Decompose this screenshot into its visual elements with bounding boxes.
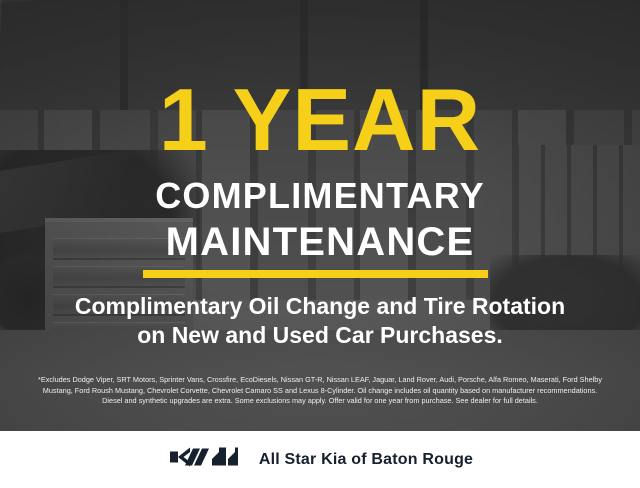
disclaimer-line-1: *Excludes Dodge Viper, SRT Motors, Sprin… — [14, 375, 626, 386]
kia-logo-icon — [167, 445, 241, 474]
headline-complimentary: COMPLIMENTARY — [0, 178, 640, 214]
disclaimer-line-3: Diesel and synthetic upgrades are extra.… — [14, 396, 626, 407]
ad-content: 1 YEAR COMPLIMENTARY MAINTENANCE Complim… — [0, 0, 640, 488]
offer-line-1: Complimentary Oil Change and Tire Rotati… — [20, 292, 620, 321]
disclaimer-line-2: Mustang, Ford Roush Mustang, Chevrolet C… — [14, 386, 626, 397]
promotional-ad-banner: 1 YEAR COMPLIMENTARY MAINTENANCE Complim… — [0, 0, 640, 488]
yellow-divider-rule — [143, 270, 488, 278]
dealer-name: All Star Kia of Baton Rouge — [259, 451, 473, 469]
headline-year: 1 YEAR — [0, 76, 640, 164]
offer-description: Complimentary Oil Change and Tire Rotati… — [20, 292, 620, 350]
headline-maintenance: MAINTENANCE — [0, 222, 640, 262]
dealer-footer: All Star Kia of Baton Rouge — [0, 431, 640, 488]
offer-line-2: on New and Used Car Purchases. — [20, 321, 620, 350]
disclaimer-fine-print: *Excludes Dodge Viper, SRT Motors, Sprin… — [14, 375, 626, 407]
